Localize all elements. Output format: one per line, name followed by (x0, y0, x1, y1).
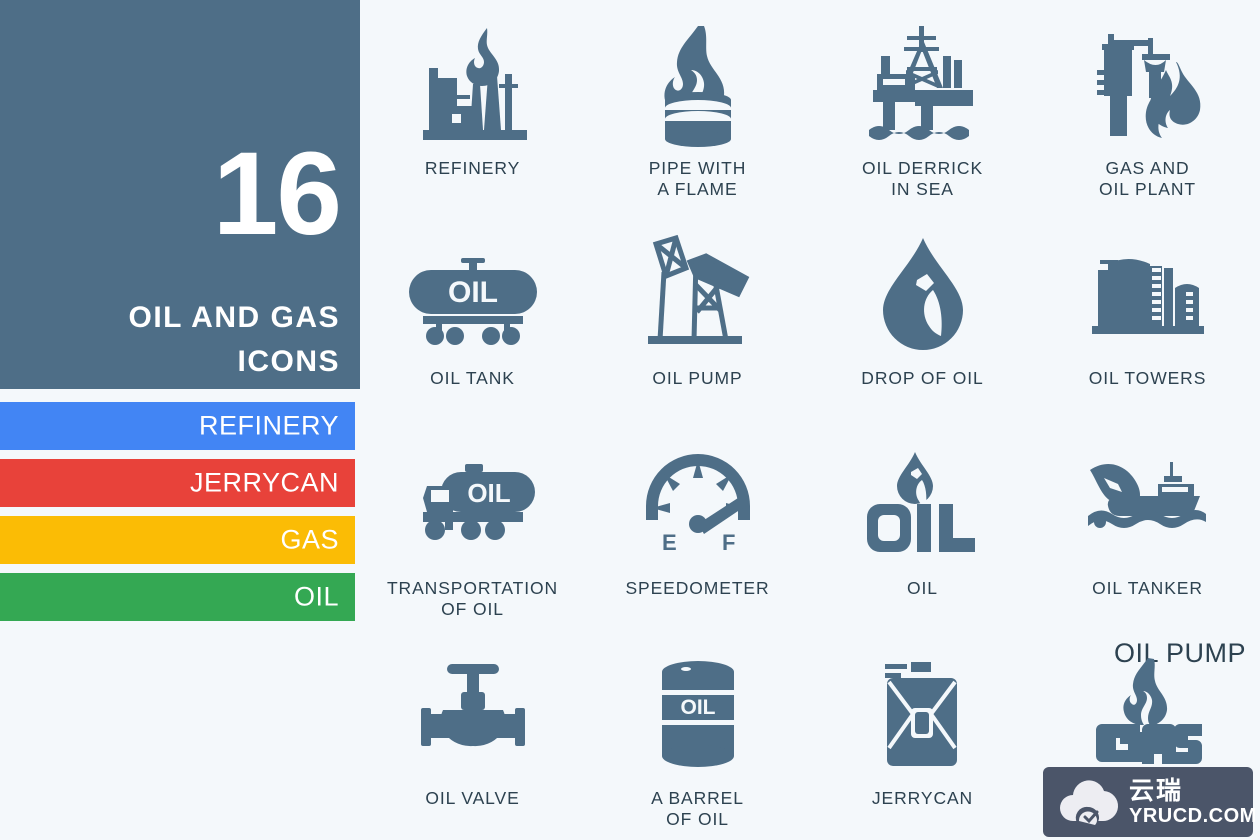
color-bar-jerrycan: JERRYCAN (0, 459, 355, 507)
oil-pump-icon (628, 230, 768, 362)
icon-cell-drop-of-oil: DROP OF OIL (810, 210, 1035, 420)
icon-cell-pipe-with-a-flame: PIPE WITH A FLAME (585, 0, 810, 210)
icon-label: OIL TANK (430, 368, 515, 389)
panel-title-line-2: ICONS (237, 344, 340, 380)
gas-and-oil-plant-icon (1078, 20, 1218, 152)
watermark: 云瑞 YRUCD.COM (1043, 767, 1253, 837)
icon-cell-oil-towers: OIL TOWERS (1035, 210, 1260, 420)
icon-cell-oil-derrick-in-sea: OIL DERRICK IN SEA (810, 0, 1035, 210)
icon-label: REFINERY (425, 158, 520, 179)
icon-label: OIL (907, 578, 938, 599)
oil-derrick-in-sea-icon (853, 20, 993, 152)
a-barrel-of-oil-icon: OIL (628, 650, 768, 782)
color-bar-label: OIL (294, 582, 339, 613)
pipe-with-a-flame-icon (628, 20, 768, 152)
icon-label: SPEEDOMETER (625, 578, 769, 599)
color-bar-refinery: REFINERY (0, 402, 355, 450)
icon-cell-oil-tank: OIL OIL TANK (360, 210, 585, 420)
watermark-cn: 云瑞 (1129, 778, 1257, 805)
icon-label: OIL VALVE (425, 788, 519, 809)
oil-valve-icon (403, 650, 543, 782)
svg-text:F: F (722, 530, 735, 555)
icon-label: OIL PUMP (652, 368, 742, 389)
icon-label: A BARREL OF OIL (651, 788, 744, 830)
icon-label: JERRYCAN (872, 788, 973, 809)
icon-cell-transportation-of-oil: OIL TRANSPORTATION OF OIL (360, 420, 585, 630)
icon-cell-a-barrel-of-oil: OIL A BARREL OF OIL (585, 630, 810, 840)
color-bar-gas: GAS (0, 516, 355, 564)
icon-label: DROP OF OIL (861, 368, 983, 389)
oil-word-icon (853, 440, 993, 572)
icon-cell-refinery: REFINERY (360, 0, 585, 210)
icon-label: OIL TOWERS (1089, 368, 1207, 389)
color-bar-oil: OIL (0, 573, 355, 621)
watermark-url: YRUCD.COM (1129, 805, 1257, 827)
icon-label: OIL DERRICK IN SEA (862, 158, 983, 200)
left-panel: 16 OIL AND GAS ICONS (0, 0, 360, 389)
color-bar-label: JERRYCAN (190, 468, 339, 499)
icon-grid: REFINERY PIPE WITH A FLAME (360, 0, 1260, 840)
oil-towers-icon (1078, 230, 1218, 362)
color-bar-label: GAS (280, 525, 339, 556)
icon-cell-jerrycan: JERRYCAN (810, 630, 1035, 840)
cloud-icon (1055, 777, 1121, 827)
icon-cell-oil-valve: OIL VALVE (360, 630, 585, 840)
svg-text:E: E (662, 530, 677, 555)
color-bar-label: REFINERY (199, 411, 339, 442)
watermark-text: 云瑞 YRUCD.COM (1129, 778, 1257, 827)
icon-cell-oil-pump: OIL PUMP (585, 210, 810, 420)
drop-of-oil-icon (853, 230, 993, 362)
icon-label: OIL TANKER (1092, 578, 1203, 599)
svg-text:OIL: OIL (448, 276, 498, 309)
jerrycan-icon (853, 650, 993, 782)
transportation-of-oil-icon: OIL (403, 440, 543, 572)
icon-label: GAS AND OIL PLANT (1099, 158, 1196, 200)
svg-text:OIL: OIL (467, 478, 510, 508)
icon-cell-oil-word: OIL (810, 420, 1035, 630)
oil-tank-icon: OIL (403, 230, 543, 362)
gas-word-icon (1078, 650, 1218, 782)
icon-label: PIPE WITH A FLAME (649, 158, 747, 200)
icon-count: 16 (213, 146, 340, 242)
panel-title-line-1: OIL AND GAS (128, 300, 340, 336)
refinery-icon (403, 20, 543, 152)
icon-cell-gas-and-oil-plant: GAS AND OIL PLANT (1035, 0, 1260, 210)
icon-cell-oil-tanker: OIL TANKER (1035, 420, 1260, 630)
icon-cell-speedometer: E F SPEEDOMETER (585, 420, 810, 630)
speedometer-icon: E F (628, 440, 768, 572)
oil-tanker-icon (1078, 440, 1218, 572)
icon-label: TRANSPORTATION OF OIL (387, 578, 558, 620)
svg-text:OIL: OIL (680, 696, 715, 719)
